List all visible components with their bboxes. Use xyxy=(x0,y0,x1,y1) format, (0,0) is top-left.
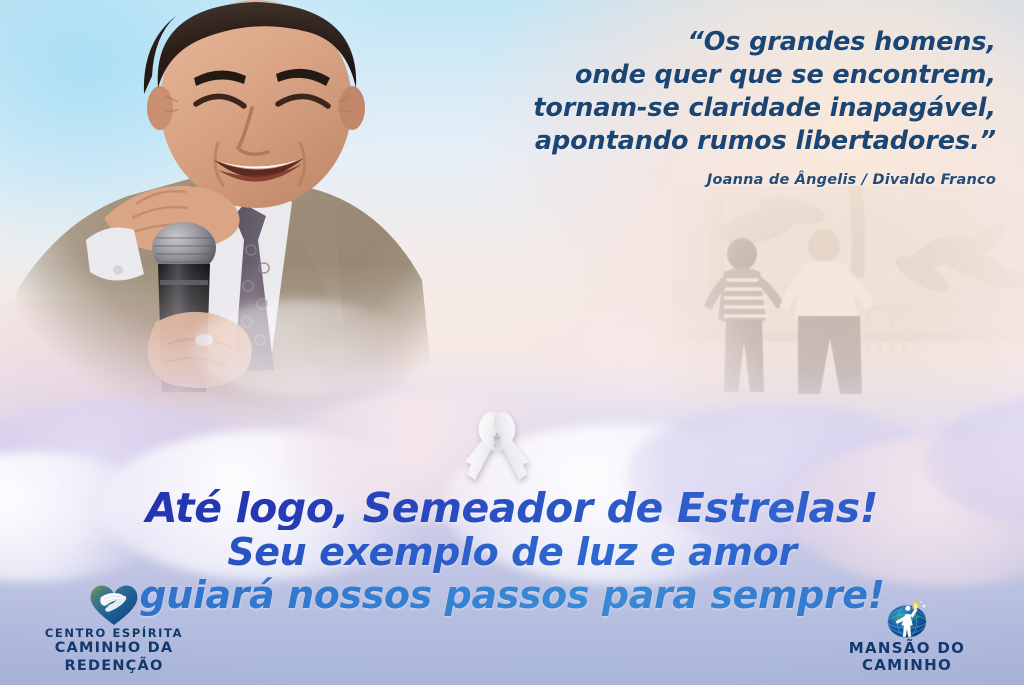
logo-left-line-1: CENTRO ESPÍRITA xyxy=(14,627,214,641)
tribute-poster: “Os grandes homens, onde quer que se enc… xyxy=(0,0,1024,685)
logo-mansao-do-caminho[interactable]: MANSÃO DO CAMINHO xyxy=(802,598,1012,675)
logo-left-line-2: CAMINHO DA REDENÇÃO xyxy=(14,640,214,675)
white-mourning-ribbon-icon xyxy=(465,408,529,486)
logo-right-text: MANSÃO DO CAMINHO xyxy=(802,640,1012,675)
quote-line-4: apontando rumos libertadores.” xyxy=(376,125,996,158)
globe-with-figure-and-flame-icon xyxy=(881,598,933,640)
heart-with-hands-icon xyxy=(89,583,139,627)
logo-left-text: CENTRO ESPÍRITA CAMINHO DA REDENÇÃO xyxy=(14,627,214,675)
quote-line-3: tornam-se claridade inapagável, xyxy=(376,92,996,125)
quote-block: “Os grandes homens, onde quer que se enc… xyxy=(376,26,996,188)
logo-centro-espirita[interactable]: CENTRO ESPÍRITA CAMINHO DA REDENÇÃO xyxy=(14,583,214,675)
quote-line-2: onde quer que se encontrem, xyxy=(376,59,996,92)
headline-line-2: Seu exemplo de luz e amor xyxy=(0,532,1024,573)
logo-right-line-1: MANSÃO DO CAMINHO xyxy=(802,640,1012,675)
quote-line-1: “Os grandes homens, xyxy=(376,26,996,59)
quote-attribution: Joanna de Ângelis / Divaldo Franco xyxy=(376,172,996,188)
headline-line-1: Até logo, Semeador de Estrelas! xyxy=(0,486,1024,530)
